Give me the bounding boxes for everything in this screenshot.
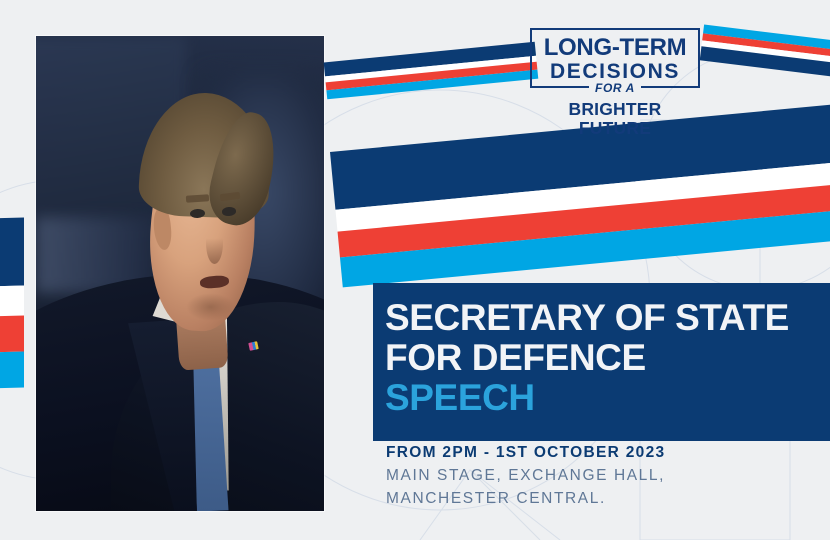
- stripe-red: [0, 316, 24, 353]
- logo-line-3: FOR A: [589, 81, 641, 95]
- headline-line-3: SPEECH: [385, 378, 830, 418]
- top-wave-left: [324, 42, 541, 120]
- logo-for-a-wrap: FOR A: [532, 81, 698, 95]
- headline-line-2: FOR DEFENCE: [385, 338, 830, 378]
- headline-line-1: SECRETARY OF STATE: [385, 298, 830, 338]
- logo-line-4: BRIGHTER FUTURE: [530, 100, 700, 138]
- flag-lapel-pin-icon: [248, 341, 258, 351]
- event-time: FROM 2PM - 1ST OCTOBER 2023: [386, 442, 826, 464]
- chin-shadow: [186, 293, 235, 322]
- left-edge-stripe-block: [0, 218, 24, 389]
- logo-line-1: LONG-TERM: [540, 35, 690, 60]
- event-venue-line2: MANCHESTER CENTRAL.: [386, 487, 826, 510]
- headline: SECRETARY OF STATE FOR DEFENCE SPEECH: [385, 298, 830, 418]
- logo-box: LONG-TERM DECISIONS FOR A: [530, 28, 700, 88]
- stripe-white: [0, 286, 24, 317]
- nose: [206, 221, 223, 264]
- logo-line-2: DECISIONS: [540, 60, 690, 83]
- top-wave-right: [697, 24, 830, 101]
- event-venue-line1: MAIN STAGE, EXCHANGE HALL,: [386, 464, 826, 487]
- speaker-portrait: [36, 36, 324, 511]
- stripe-navy: [0, 218, 24, 287]
- stripe-light-blue: [0, 352, 24, 389]
- campaign-logo: LONG-TERM DECISIONS FOR A BRIGHTER FUTUR…: [530, 28, 700, 138]
- event-details: FROM 2PM - 1ST OCTOBER 2023 MAIN STAGE, …: [386, 442, 826, 510]
- event-announcement-graphic: SECRETARY OF STATE FOR DEFENCE SPEECH FR…: [0, 0, 830, 540]
